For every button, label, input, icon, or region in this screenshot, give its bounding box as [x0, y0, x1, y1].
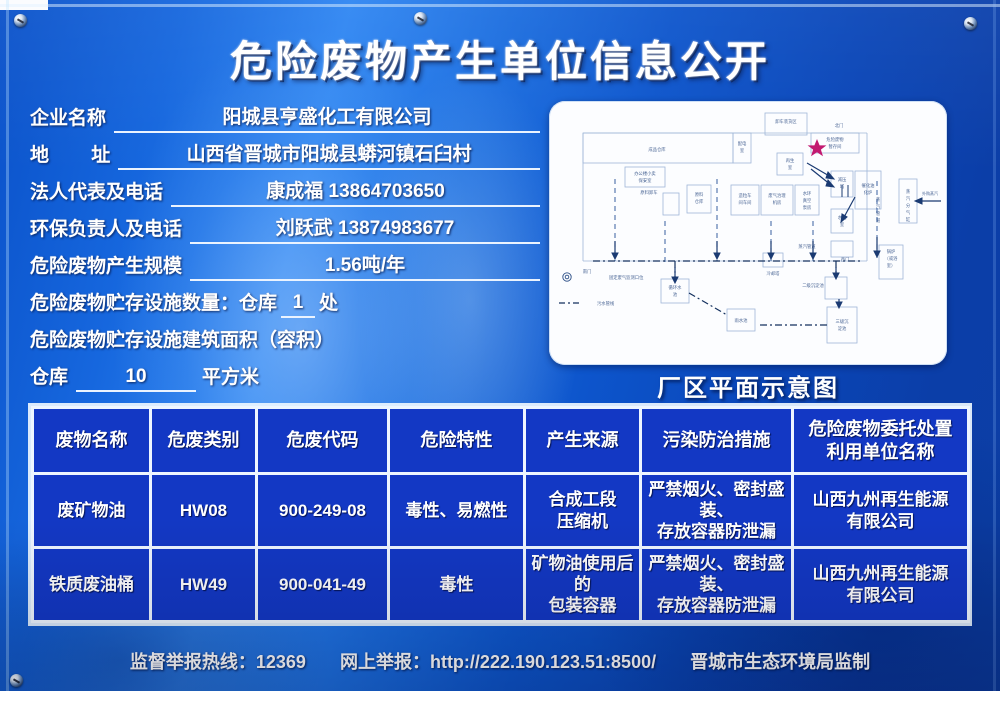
label-storage-area-heading: 危险废物贮存设施建筑面积（容积）: [30, 325, 334, 355]
label-storage-count-after: 处: [319, 288, 338, 318]
table-header-control-measures: 污染防治措施: [641, 408, 793, 474]
svg-text:气: 气: [906, 209, 911, 215]
svg-text:南门: 南门: [583, 268, 592, 275]
table-row: 废矿物油 HW08 900-249-08 毒性、易燃性 合成工段 压缩机 严禁烟…: [33, 474, 969, 548]
svg-text:汽: 汽: [906, 195, 911, 201]
info-row-company-name: 企业名称 阳城县亨盛化工有限公司: [30, 96, 540, 133]
factory-layout-diagram: 成品仓库 配电室 卸车装货区 危险废物暂存间 再生室 减压塔 催化油化炉 水洗室…: [549, 101, 947, 365]
factory-layout-svg: 成品仓库 配电室 卸车装货区 危险废物暂存间 再生室 减压塔 催化油化炉 水洗室…: [549, 101, 947, 365]
svg-text:水环: 水环: [803, 190, 812, 197]
svg-text:分: 分: [906, 202, 911, 209]
cell-control-line2: 存放容器防泄漏: [642, 521, 791, 542]
value-company-name: 阳城县亨盛化工有限公司: [114, 102, 540, 133]
value-env-officer: 刘跃武 13874983677: [190, 213, 540, 244]
cell-control-line1: 严禁烟火、密封盛装、: [642, 479, 791, 522]
table-header-disposal-unit: 危险废物委托处置 利用单位名称: [793, 408, 969, 474]
hazardous-waste-star-marker: [808, 139, 827, 156]
svg-text:蒸: 蒸: [906, 188, 911, 195]
table-header-hazard-property: 危险特性: [389, 408, 525, 474]
info-row-storage-count: 危险废物贮存设施数量：仓库 1 处: [30, 281, 540, 318]
footer-authority: 晋城市生态环境局监制: [690, 648, 870, 674]
info-row-storage-area: 仓库 10 平方米: [30, 355, 540, 392]
table-header-row: 废物名称 危废类别 危废代码 危险特性 产生来源 污染防治措施 危险废物委托处置…: [33, 408, 969, 474]
label-generation-scale: 危险废物产生规模: [30, 251, 182, 281]
svg-text:水洗: 水洗: [838, 214, 847, 221]
frame-edge-left: [6, 0, 9, 691]
cell-disposal-line1: 山西九州再生能源: [794, 563, 967, 584]
cell-control-measures: 严禁烟火、密封盛装、 存放容器防泄漏: [641, 548, 793, 622]
image-bottom-margin: [0, 691, 1000, 703]
value-generation-scale: 1.56吨/年: [190, 250, 540, 281]
svg-text:塔: 塔: [840, 183, 845, 190]
svg-text:汽: 汽: [876, 203, 881, 209]
svg-text:西门: 西门: [841, 256, 850, 263]
label-storage-area-before: 仓库: [30, 362, 68, 392]
cell-control-line1: 严禁烟火、密封盛装、: [642, 553, 791, 596]
diagram-caption: 厂区平面示意图: [549, 368, 947, 403]
table-header-waste-category: 危废类别: [151, 408, 257, 474]
svg-text:真空: 真空: [803, 197, 812, 204]
svg-text:保安室: 保安室: [639, 177, 653, 184]
svg-text:道: 道: [876, 217, 881, 224]
value-legal-rep: 康成福 13864703650: [171, 176, 540, 207]
screw-icon-top-left: [14, 14, 27, 27]
svg-text:循环水: 循环水: [669, 284, 683, 291]
company-info-block: 企业名称 阳城县亨盛化工有限公司 地 址 山西省晋城市阳城县蟒河镇石臼村 法人代…: [30, 96, 540, 392]
svg-text:雨水池: 雨水池: [735, 317, 749, 324]
value-storage-count: 1: [281, 292, 315, 318]
label-legal-rep: 法人代表及电话: [30, 177, 163, 207]
svg-text:配电: 配电: [738, 140, 747, 147]
svg-text:蒸: 蒸: [876, 196, 881, 203]
cell-hazard-property: 毒性、易燃性: [389, 474, 525, 548]
svg-text:危险废物: 危险废物: [826, 136, 844, 143]
svg-text:三级沉: 三级沉: [836, 318, 850, 325]
label-env-officer: 环保负责人及电话: [30, 214, 182, 244]
table-header-waste-code: 危废代码: [257, 408, 389, 474]
table-header-source: 产生来源: [525, 408, 641, 474]
svg-text:外购蒸汽: 外购蒸汽: [922, 190, 938, 196]
svg-text:室: 室: [788, 164, 793, 170]
cell-waste-code: 900-041-49: [257, 548, 389, 622]
svg-text:管: 管: [876, 210, 881, 217]
info-row-storage-area-heading: 危险废物贮存设施建筑面积（容积）: [30, 318, 540, 355]
svg-text:催化油: 催化油: [862, 182, 875, 189]
svg-text:机房: 机房: [773, 199, 782, 206]
footer-hotline: 监督举报热线：12369: [130, 648, 306, 674]
svg-text:锅炉: 锅炉: [887, 248, 896, 255]
cell-disposal-unit: 山西九州再生能源 有限公司: [793, 474, 969, 548]
table-row: 铁质废油桶 HW49 900-041-49 毒性 矿物油使用后的 包装容器 严禁…: [33, 548, 969, 622]
label-address: 地 址: [30, 140, 110, 170]
cell-control-line2: 存放容器防泄漏: [642, 595, 791, 616]
cell-source-line1: 合成工段: [526, 489, 639, 510]
info-row-address: 地 址 山西省晋城市阳城县蟒河镇石臼村: [30, 133, 540, 170]
cell-disposal-line1: 山西九州再生能源: [794, 489, 967, 510]
hazardous-waste-table: 废物名称 危废类别 危废代码 危险特性 产生来源 污染防治措施 危险废物委托处置…: [28, 403, 972, 626]
frame-edge-right: [993, 0, 996, 691]
svg-text:北门: 北门: [835, 122, 844, 129]
svg-text:池: 池: [673, 291, 678, 297]
table-header-waste-name: 废物名称: [33, 408, 151, 474]
label-company-name: 企业名称: [30, 103, 106, 133]
svg-text:减压: 减压: [838, 176, 847, 183]
svg-text:固定废气监测口位: 固定废气监测口位: [609, 274, 644, 281]
cell-source: 合成工段 压缩机: [525, 474, 641, 548]
cell-waste-name: 铁质废油桶: [33, 548, 151, 622]
svg-text:冷却塔: 冷却塔: [767, 270, 781, 277]
cell-waste-category: HW08: [151, 474, 257, 548]
screw-icon-top-center: [414, 12, 427, 25]
cell-hazard-property: 毒性: [389, 548, 525, 622]
info-row-env-officer: 环保负责人及电话 刘跃武 13874983677: [30, 207, 540, 244]
page-title: 危险废物产生单位信息公开: [0, 28, 1000, 89]
svg-text:化炉: 化炉: [864, 189, 873, 196]
footer-bar: 监督举报热线：12369 网上举报：http://222.190.123.51:…: [0, 648, 1000, 674]
svg-text:间车间: 间车间: [739, 199, 752, 206]
table-header-disposal-unit-line2: 利用单位名称: [794, 441, 967, 464]
info-row-generation-scale: 危险废物产生规模 1.56吨/年: [30, 244, 540, 281]
legend-symbols: [559, 273, 579, 303]
svg-text:成品仓库: 成品仓库: [648, 146, 666, 153]
svg-text:（或浴: （或浴: [885, 255, 899, 262]
footer-online-report[interactable]: 网上举报：http://222.190.123.51:8500/: [340, 648, 656, 674]
information-board: 危险废物产生单位信息公开 企业名称 阳城县亨盛化工有限公司 地 址 山西省晋城市…: [0, 0, 1000, 691]
svg-text:废气治理: 废气治理: [768, 192, 786, 199]
cell-waste-category: HW49: [151, 548, 257, 622]
value-storage-area: 10: [76, 366, 196, 392]
cell-source: 矿物油使用后的 包装容器: [525, 548, 641, 622]
value-address: 山西省晋城市阳城县蟒河镇石臼村: [118, 139, 540, 170]
svg-text:污水管线: 污水管线: [597, 300, 615, 307]
svg-text:缸: 缸: [906, 216, 911, 222]
cell-disposal-line2: 有限公司: [794, 511, 967, 532]
cell-waste-code: 900-249-08: [257, 474, 389, 548]
info-row-legal-rep: 法人代表及电话 康成福 13864703650: [30, 170, 540, 207]
screw-icon-bottom-left: [10, 674, 23, 687]
cell-control-measures: 严禁烟火、密封盛装、 存放容器防泄漏: [641, 474, 793, 548]
svg-text:造粒车: 造粒车: [739, 192, 753, 199]
svg-text:室: 室: [740, 147, 745, 153]
svg-text:室）: 室）: [887, 262, 896, 268]
svg-text:仓库: 仓库: [695, 198, 704, 205]
svg-text:淀池: 淀池: [838, 325, 847, 332]
svg-text:再生: 再生: [786, 157, 795, 164]
svg-text:办公楼小卖: 办公楼小卖: [634, 170, 656, 177]
svg-text:二级沉淀池: 二级沉淀池: [802, 282, 824, 289]
cell-source-line2: 包装容器: [526, 595, 639, 616]
cell-source-line1: 矿物油使用后的: [526, 553, 639, 596]
cell-disposal-unit: 山西九州再生能源 有限公司: [793, 548, 969, 622]
svg-text:蒸汽管道: 蒸汽管道: [798, 243, 816, 250]
svg-text:室: 室: [840, 221, 845, 227]
label-storage-count-before: 危险废物贮存设施数量：仓库: [30, 288, 277, 318]
svg-text:暂存间: 暂存间: [829, 143, 842, 150]
svg-text:卸车装货区: 卸车装货区: [775, 118, 797, 125]
label-storage-area-after: 平方米: [202, 362, 259, 392]
svg-text:原料卸车: 原料卸车: [640, 189, 658, 196]
cell-waste-name: 废矿物油: [33, 474, 151, 548]
svg-text:泵房: 泵房: [803, 204, 812, 211]
table-header-disposal-unit-line1: 危险废物委托处置: [794, 418, 967, 441]
cell-source-line2: 压缩机: [526, 511, 639, 532]
svg-text:原料: 原料: [695, 191, 704, 198]
frame-edge-top: [0, 4, 1000, 7]
cell-disposal-line2: 有限公司: [794, 585, 967, 606]
